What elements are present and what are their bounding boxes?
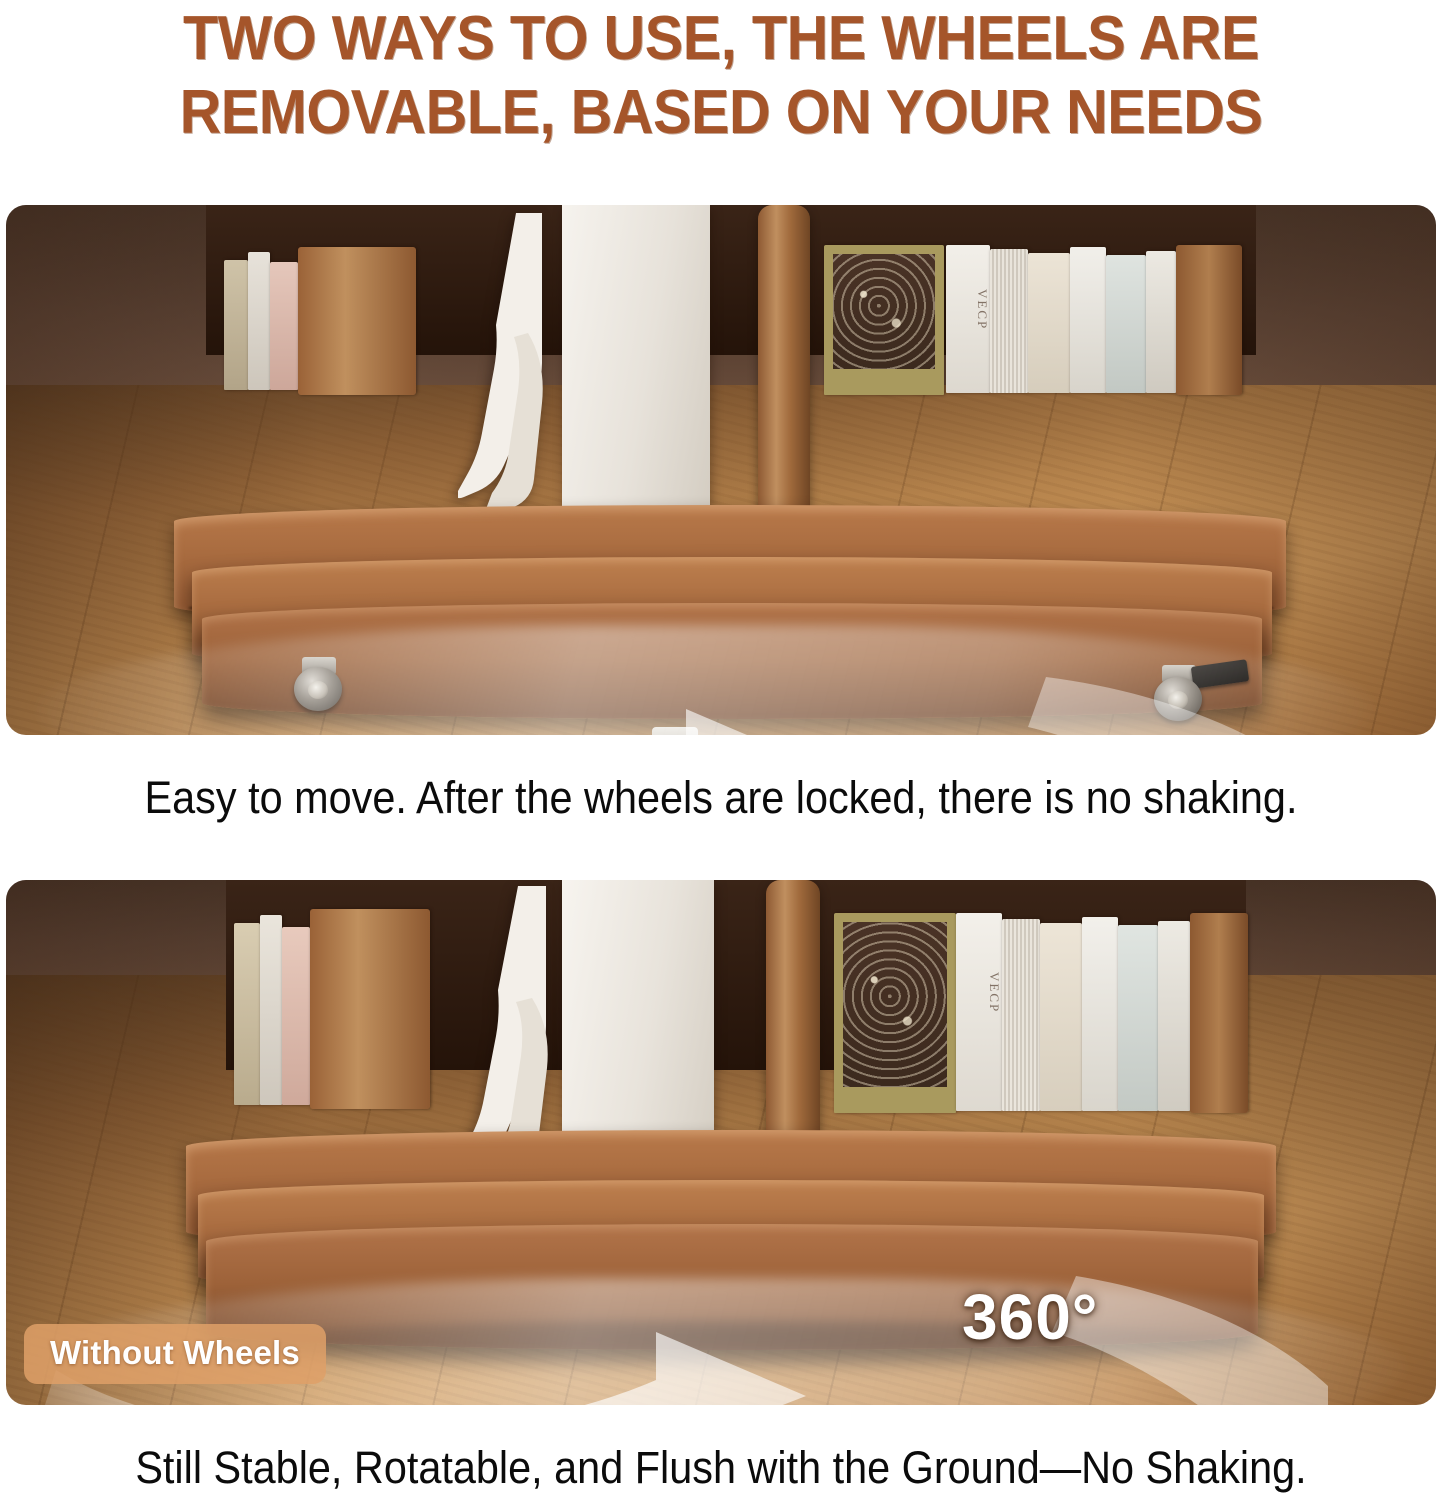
book-spine-text: VECP	[956, 972, 1002, 1013]
caster-bracket	[652, 727, 698, 735]
book-spine	[1028, 253, 1070, 393]
caster-hub	[1168, 691, 1188, 709]
book-spine	[1106, 255, 1146, 393]
book-spine	[1040, 923, 1082, 1111]
page-title-line-1: TWO WAYS TO USE, THE WHEELS ARE	[63, 2, 1378, 76]
wheel-lock-lever-icon	[1191, 659, 1250, 689]
book-spine	[1070, 247, 1106, 393]
book-spine	[1146, 251, 1176, 393]
panel-without-wheels: VECP	[6, 880, 1436, 1405]
book-spine	[248, 252, 270, 390]
book-divider-panel	[1190, 913, 1248, 1113]
caption-with-wheels: Easy to move. After the wheels are locke…	[58, 772, 1385, 824]
book-spine	[1118, 925, 1158, 1111]
caster-left	[288, 657, 358, 713]
book-spine-text: VECP	[946, 289, 990, 330]
book-spine	[270, 262, 298, 390]
caster-center	[642, 705, 722, 735]
page-title: TWO WAYS TO USE, THE WHEELS ARE REMOVABL…	[0, 2, 1442, 150]
white-pedestal-box	[562, 205, 710, 535]
book-art-cover	[834, 913, 956, 1113]
book-art-cover	[824, 245, 944, 395]
book-spine	[224, 260, 248, 390]
caster-hub	[308, 681, 328, 699]
rotation-degree-label: 360°	[962, 1285, 1098, 1349]
book-divider-panel	[1176, 245, 1242, 395]
scene-without-wheels: VECP	[6, 880, 1436, 1405]
panel-with-wheels: VECP	[6, 205, 1436, 735]
book-spine: VECP	[946, 245, 990, 393]
book-spine	[1158, 921, 1190, 1111]
book-divider-panel	[298, 247, 416, 395]
scene-with-wheels: VECP	[6, 205, 1436, 735]
badge-without-wheels: Without Wheels	[24, 1324, 326, 1384]
page-title-line-2: REMOVABLE, BASED ON YOUR NEEDS	[63, 76, 1378, 150]
bookcase-center-post	[758, 205, 810, 550]
book-spine: VECP	[956, 913, 1002, 1111]
book-divider-panel	[310, 909, 430, 1109]
shelf-base-ring	[202, 603, 1262, 719]
caption-without-wheels: Still Stable, Rotatable, and Flush with …	[58, 1442, 1385, 1494]
book-spine	[1082, 917, 1118, 1111]
book-spine	[282, 927, 310, 1105]
book-spine	[1002, 919, 1040, 1111]
book-spine	[260, 915, 282, 1105]
book-spine	[234, 923, 260, 1105]
caster-right	[1134, 663, 1254, 723]
book-spine	[990, 249, 1028, 393]
infographic-page: TWO WAYS TO USE, THE WHEELS ARE REMOVABL…	[0, 0, 1442, 1500]
